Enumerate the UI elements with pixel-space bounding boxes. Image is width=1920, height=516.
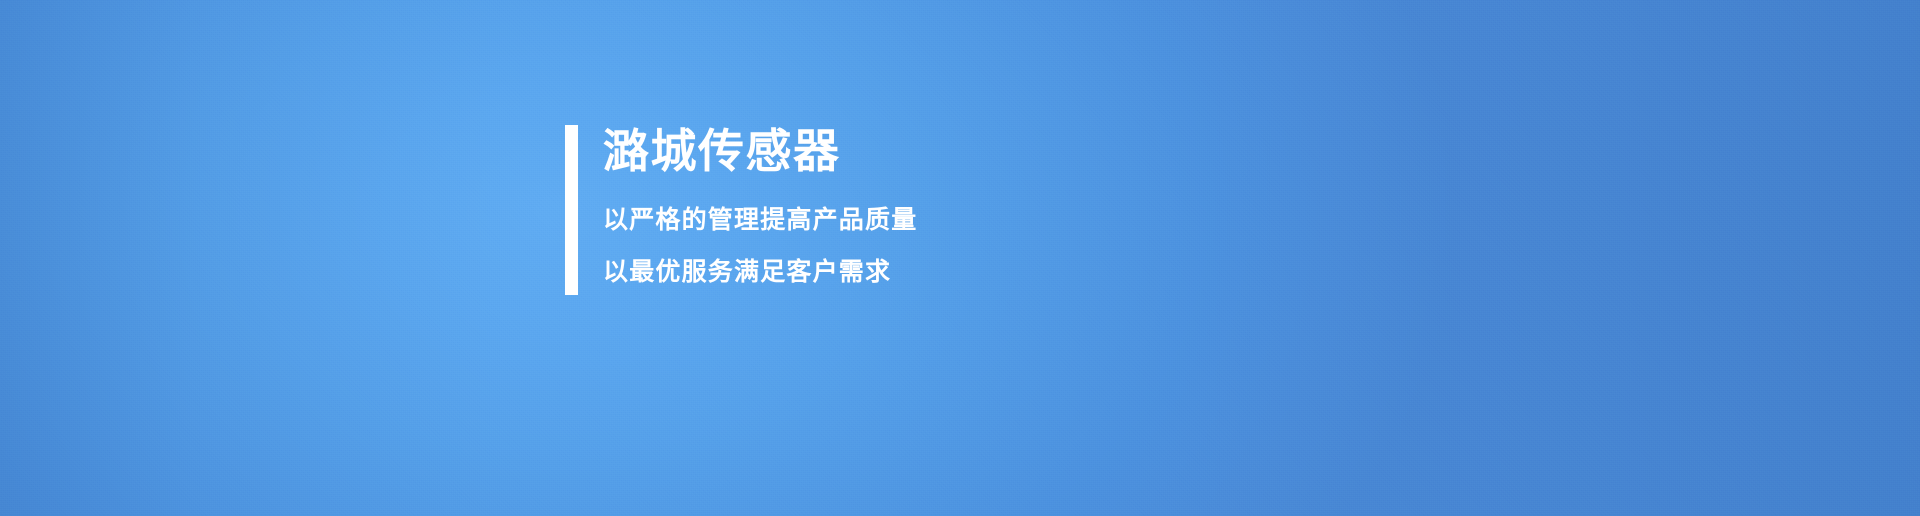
banner-title: 潞城传感器 bbox=[603, 127, 917, 177]
background-noise-texture bbox=[0, 0, 1920, 516]
banner-subtitle-line-2: 以最优服务满足客户需求 bbox=[603, 257, 917, 287]
hero-banner: 潞城传感器 以严格的管理提高产品质量 以最优服务满足客户需求 bbox=[0, 0, 1920, 516]
vertical-accent-bar bbox=[565, 125, 578, 295]
banner-text-block: 潞城传感器 以严格的管理提高产品质量 以最优服务满足客户需求 bbox=[603, 125, 917, 295]
background-edge-vignette bbox=[0, 0, 1920, 516]
banner-subtitle-line-1: 以严格的管理提高产品质量 bbox=[603, 205, 917, 235]
banner-content: 潞城传感器 以严格的管理提高产品质量 以最优服务满足客户需求 bbox=[565, 125, 917, 295]
